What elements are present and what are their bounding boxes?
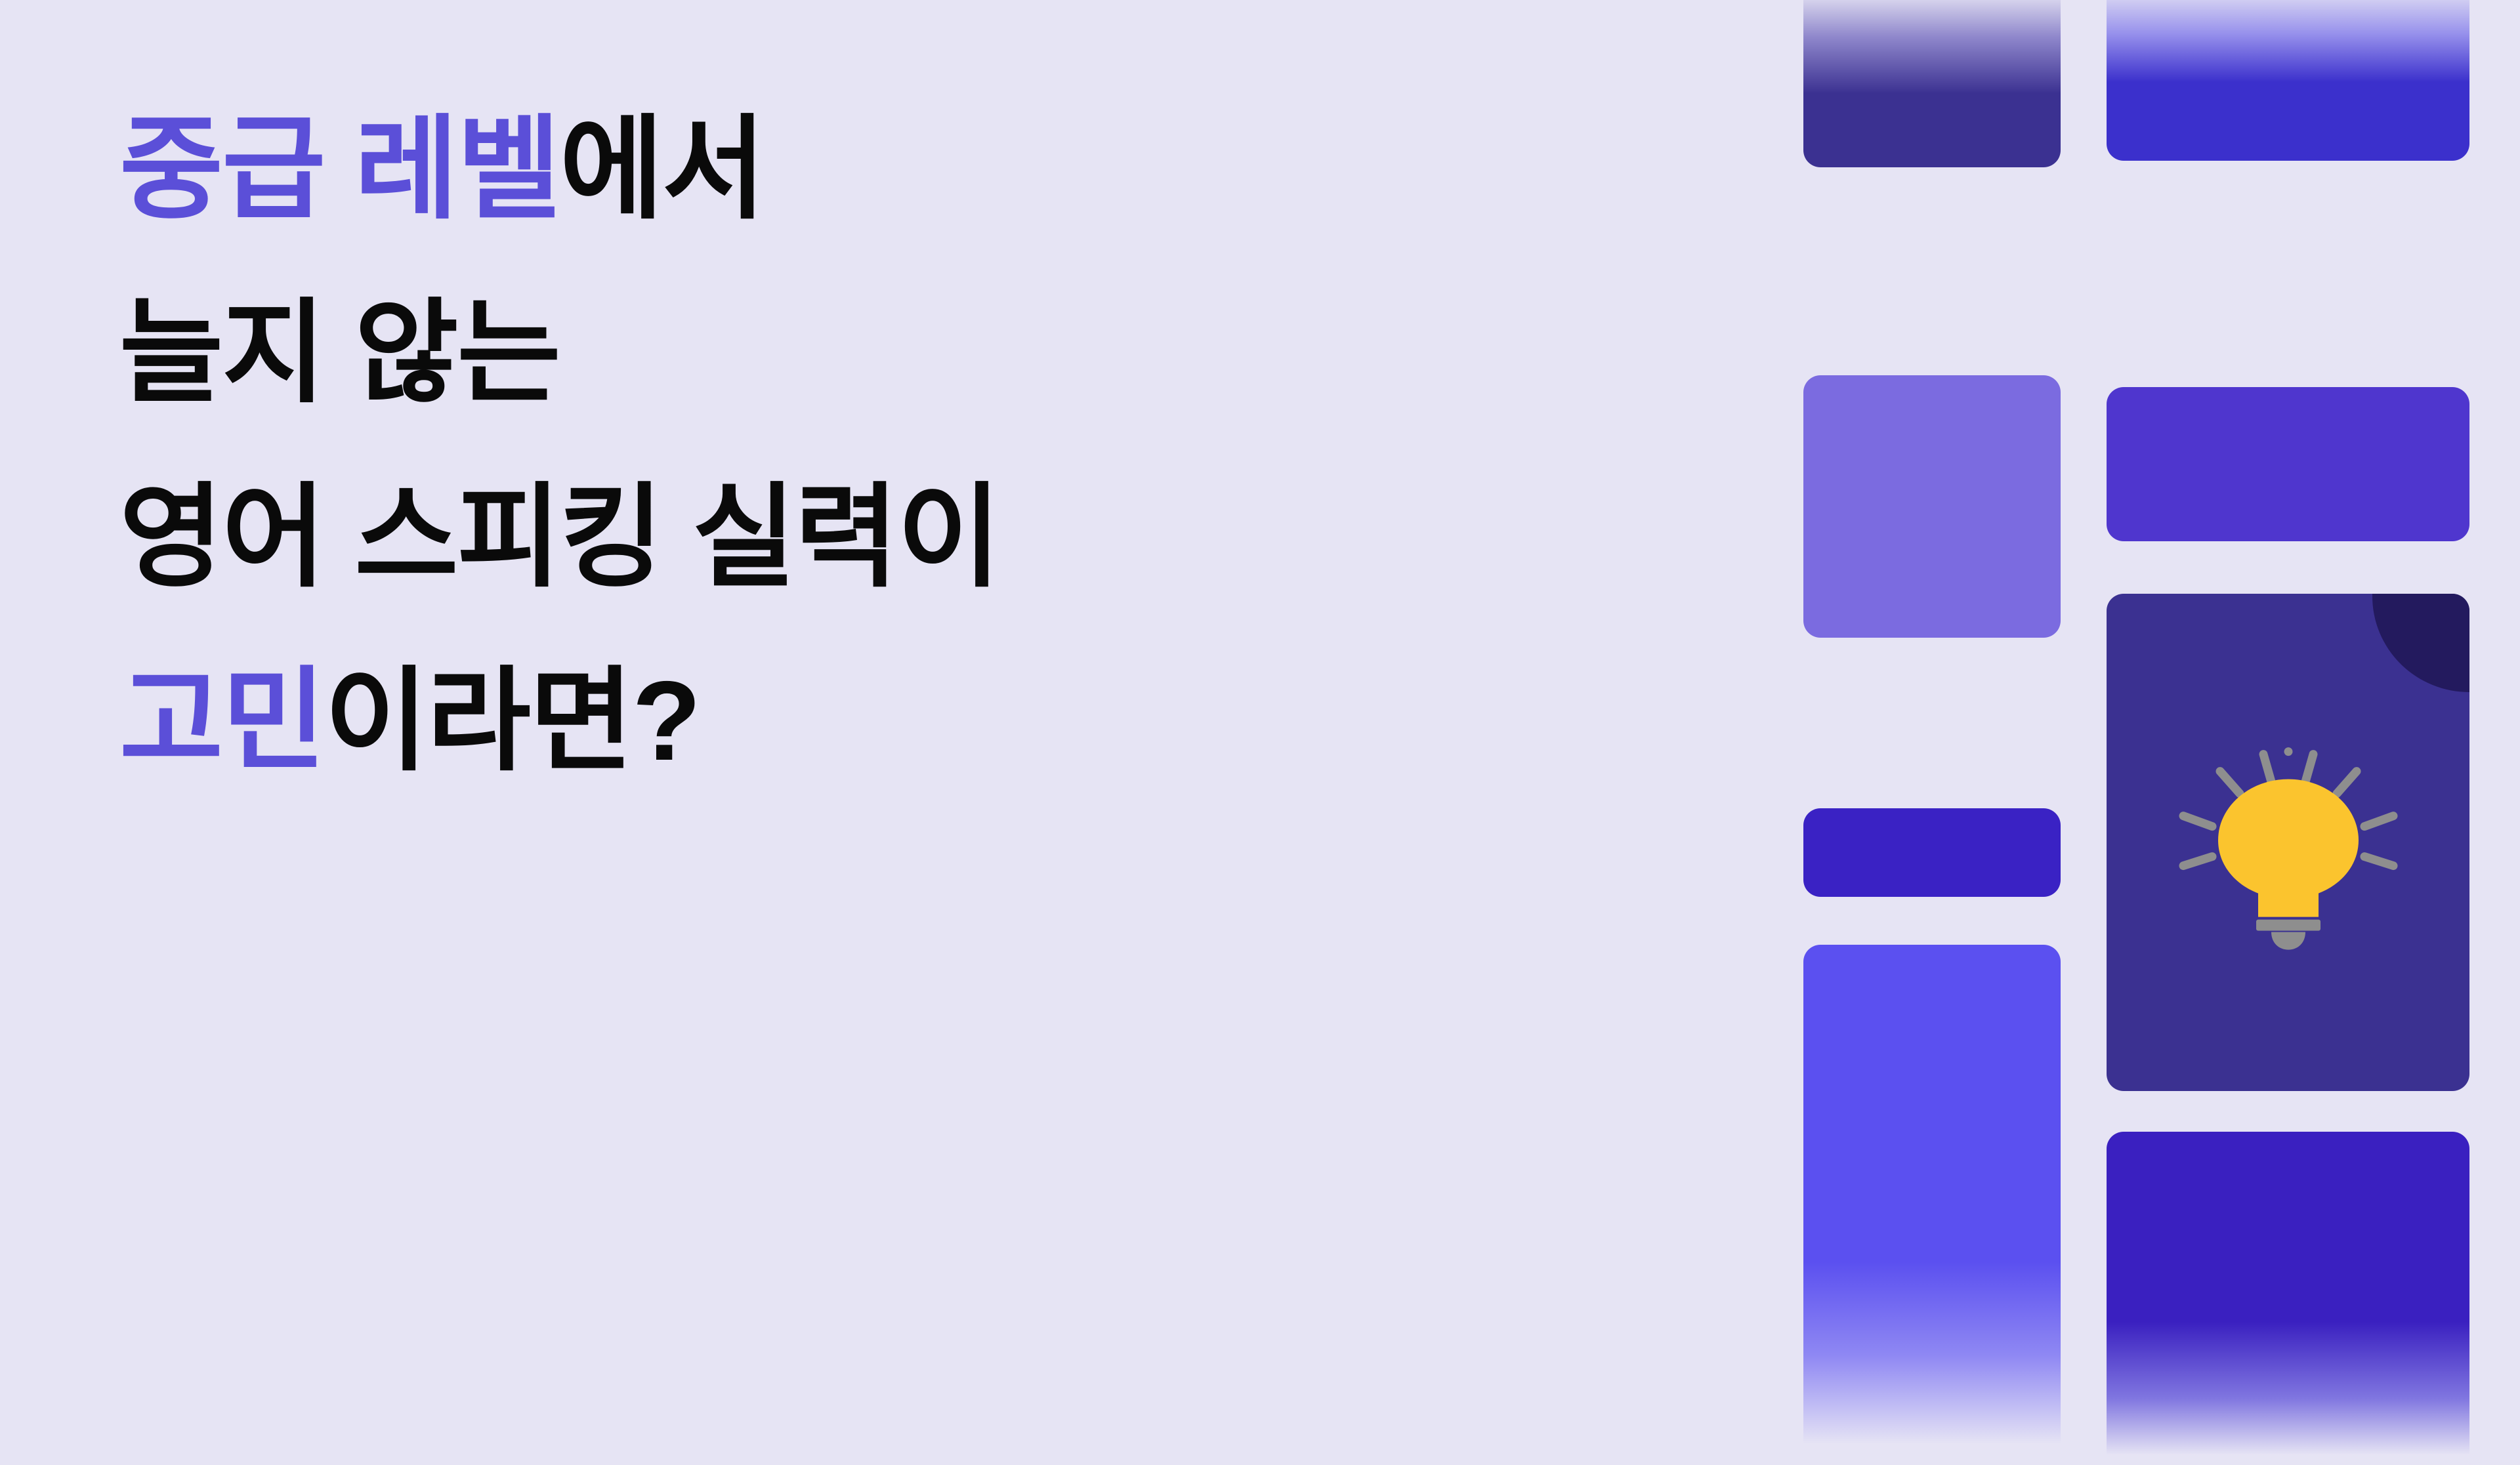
headline-line-2-plain: 늘지 않는 xyxy=(119,290,560,416)
page-title: 중급 레벨에서 늘지 않는 영어 스피킹 실력이 고민이라면? xyxy=(119,77,1721,813)
headline-line-1: 중급 레벨에서 xyxy=(119,77,1721,261)
headline-line-2: 늘지 않는 xyxy=(119,261,1721,445)
headline-line-3: 영어 스피킹 실력이 xyxy=(119,445,1721,629)
mosaic-tile-bright-blue-violet xyxy=(1803,945,2061,1465)
mosaic-tile-dark-indigo xyxy=(1803,0,2061,167)
mosaic-tile-deep-blue xyxy=(2107,1132,2469,1465)
headline-line-4: 고민이라면? xyxy=(119,629,1721,813)
lightbulb-icon xyxy=(2160,739,2417,955)
promo-banner: 중급 레벨에서 늘지 않는 영어 스피킹 실력이 고민이라면? xyxy=(0,0,2520,1465)
mosaic-tile-light-purple xyxy=(1803,375,2061,638)
idea-card xyxy=(2107,594,2469,1091)
headline-line-1-accent: 중급 레벨 xyxy=(119,106,560,232)
mosaic-tile-blue-violet xyxy=(2107,0,2469,161)
folded-corner-icon xyxy=(2372,594,2469,692)
headline-line-3-plain: 영어 스피킹 실력이 xyxy=(119,474,1000,600)
mosaic-tile-deep-blue-bar xyxy=(1803,808,2061,897)
headline-line-1-plain: 에서 xyxy=(560,106,765,232)
mosaic-tile-medium-purple xyxy=(2107,387,2469,541)
headline-line-4-plain: 이라면? xyxy=(324,658,700,784)
headline-line-4-accent: 고민 xyxy=(119,658,324,784)
mosaic-graphic xyxy=(1803,0,2520,1465)
